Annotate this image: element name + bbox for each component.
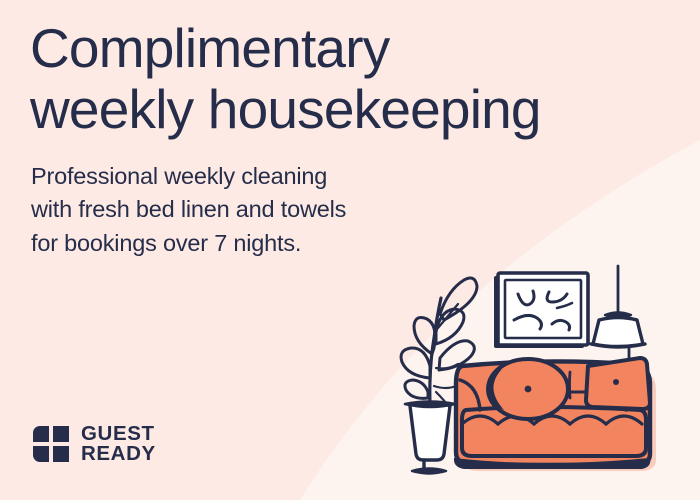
sofa: [454, 358, 656, 471]
guestready-mark-icon: [31, 424, 71, 464]
brand-logo: GUEST READY: [31, 424, 156, 464]
living-room-illustration: [392, 258, 692, 498]
brand-wordmark-line-2: READY: [81, 444, 156, 464]
framed-picture: [494, 273, 588, 348]
page-title: Complimentary weekly housekeeping: [30, 18, 650, 139]
pendant-lamp: [591, 266, 645, 364]
brand-wordmark: GUEST READY: [81, 424, 156, 464]
promo-card: Complimentary weekly housekeeping Profes…: [0, 0, 700, 500]
page-subtitle: Professional weekly cleaning with fresh …: [31, 160, 471, 260]
